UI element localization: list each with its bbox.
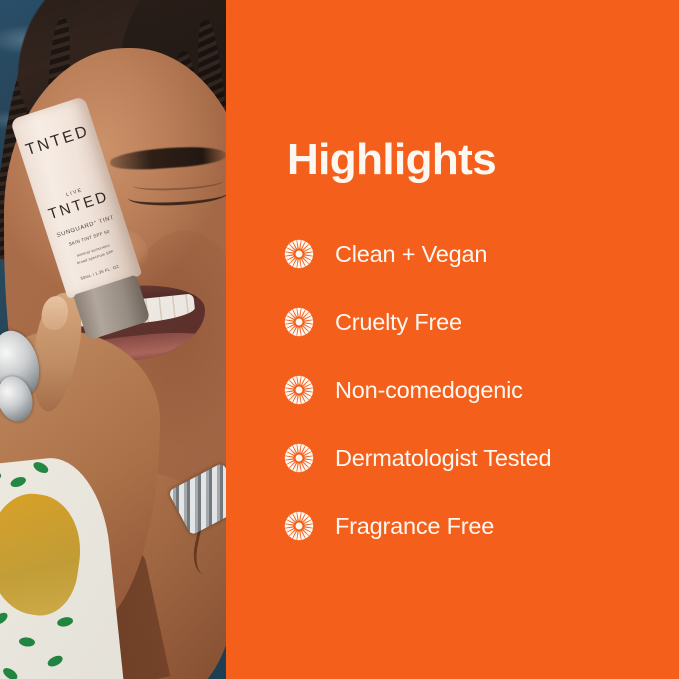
highlight-item: Clean + Vegan — [284, 220, 654, 288]
highlight-item: Cruelty Free — [284, 288, 654, 356]
tube-brand-top: TNTED — [18, 121, 98, 162]
shirt-leaf-motif — [0, 610, 10, 626]
shirt-leaf-motif — [46, 654, 64, 669]
highlight-item-label: Non-comedogenic — [335, 377, 523, 404]
shirt-leaf-motif — [19, 637, 36, 648]
page-title: Highlights — [287, 138, 496, 182]
highlights-list: Clean + VeganCruelty FreeNon-comedogenic… — [284, 220, 654, 560]
highlight-item: Dermatologist Tested — [284, 424, 654, 492]
product-highlights-screenshot: TNTED LIVE TNTED SUNGUARD° TINT SKIN TIN… — [0, 0, 679, 679]
shirt-leaf-motif — [0, 468, 2, 481]
shirt-leaf-motif — [32, 460, 50, 475]
highlight-item-label: Clean + Vegan — [335, 241, 487, 268]
sunburst-icon — [284, 239, 314, 269]
highlight-item-label: Dermatologist Tested — [335, 445, 551, 472]
sunburst-icon — [284, 375, 314, 405]
highlights-panel: Highlights Clean + VeganCruelty FreeNon-… — [226, 0, 679, 679]
highlight-item-label: Cruelty Free — [335, 309, 462, 336]
highlight-item: Non-comedogenic — [284, 356, 654, 424]
shirt-leaf-motif — [1, 666, 19, 679]
highlight-item-label: Fragrance Free — [335, 513, 494, 540]
sunburst-icon — [284, 511, 314, 541]
sunburst-icon — [284, 307, 314, 337]
shirt-yellow-motif — [0, 488, 88, 620]
sunburst-icon — [284, 443, 314, 473]
shirt-leaf-motif — [9, 475, 27, 489]
highlight-item: Fragrance Free — [284, 492, 654, 560]
shirt-leaf-motif — [56, 616, 74, 628]
product-lifestyle-photo: TNTED LIVE TNTED SUNGUARD° TINT SKIN TIN… — [0, 0, 226, 679]
